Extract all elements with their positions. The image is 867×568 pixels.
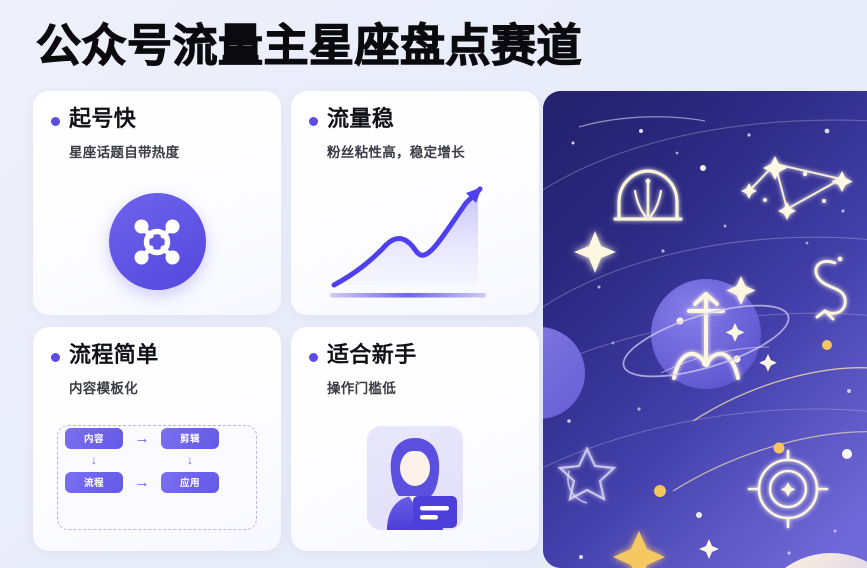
growth-chart-icon	[316, 181, 514, 309]
flow-diagram-icon: 内容 → 剪辑 ↓ ↓ 流程 → 应用	[57, 425, 257, 530]
cosmos-canvas	[543, 91, 867, 568]
bullet-dot-icon	[51, 117, 60, 126]
page-header: 公众号流量主星座盘点赛道	[36, 14, 676, 76]
card-title: 流量稳	[327, 108, 394, 132]
card-header: 流量稳	[309, 108, 521, 132]
card-title: 起号快	[69, 108, 136, 132]
flow-arrow-right-top: →	[135, 431, 150, 446]
bullet-dot-icon	[309, 353, 318, 362]
card-title: 流程简单	[69, 344, 159, 368]
card-header: 起号快	[51, 108, 263, 132]
flow-node-1: 内容	[65, 428, 123, 449]
card-artwork	[33, 174, 281, 309]
feature-card-qihaokuai[interactable]: 起号快 星座话题自带热度	[33, 91, 281, 315]
flow-arrow-right-bottom: →	[135, 475, 150, 490]
chart-baseline	[330, 293, 486, 298]
card-artwork: 内容 → 剪辑 ↓ ↓ 流程 → 应用	[33, 410, 281, 545]
beginner-avatar-icon	[367, 426, 463, 530]
feature-card-grid: 起号快 星座话题自带热度	[33, 91, 533, 556]
orbit-dot-4	[842, 449, 852, 459]
card-subtitle: 星座话题自带热度	[69, 141, 263, 161]
orbit-dot-2	[774, 443, 785, 454]
bullet-dot-icon	[51, 353, 60, 362]
flow-node-3: 流程	[65, 472, 123, 493]
feature-card-shihexinshou[interactable]: 适合新手 操作门槛低	[291, 327, 539, 551]
avatar-document	[413, 496, 457, 528]
flow-node-2: 剪辑	[161, 428, 219, 449]
feature-card-liuliangwen[interactable]: 流量稳 粉丝粘性高，稳定增长	[291, 91, 539, 315]
card-header: 流程简单	[51, 344, 263, 368]
card-header: 适合新手	[309, 344, 521, 368]
network-hub-icon	[109, 193, 206, 290]
avatar-face	[400, 450, 430, 486]
page-title: 公众号流量主星座盘点赛道	[36, 23, 582, 68]
document-line-1	[420, 506, 449, 511]
zodiac-space-illustration	[543, 91, 867, 568]
card-subtitle: 粉丝粘性高，稳定增长	[327, 141, 521, 161]
feature-card-liuchengjiandan[interactable]: 流程简单 内容模板化 内容 → 剪辑 ↓ ↓ 流程 → 应用	[33, 327, 281, 551]
network-hub-glyph	[127, 212, 187, 272]
card-subtitle: 内容模板化	[69, 377, 263, 397]
flow-spacer	[124, 450, 160, 470]
bullet-dot-icon	[309, 117, 318, 126]
orbit-dot-3	[822, 340, 832, 350]
orbit-dot-1	[654, 485, 666, 497]
document-line-2	[420, 515, 438, 520]
flow-arrow-down-right: ↓	[187, 454, 193, 466]
flow-node-4: 应用	[161, 472, 219, 493]
card-artwork	[291, 410, 539, 545]
card-artwork	[291, 174, 539, 309]
flow-arrow-down-left: ↓	[91, 454, 97, 466]
card-title: 适合新手	[327, 344, 417, 368]
card-subtitle: 操作门槛低	[327, 377, 521, 397]
avatar-glyph	[367, 426, 463, 530]
